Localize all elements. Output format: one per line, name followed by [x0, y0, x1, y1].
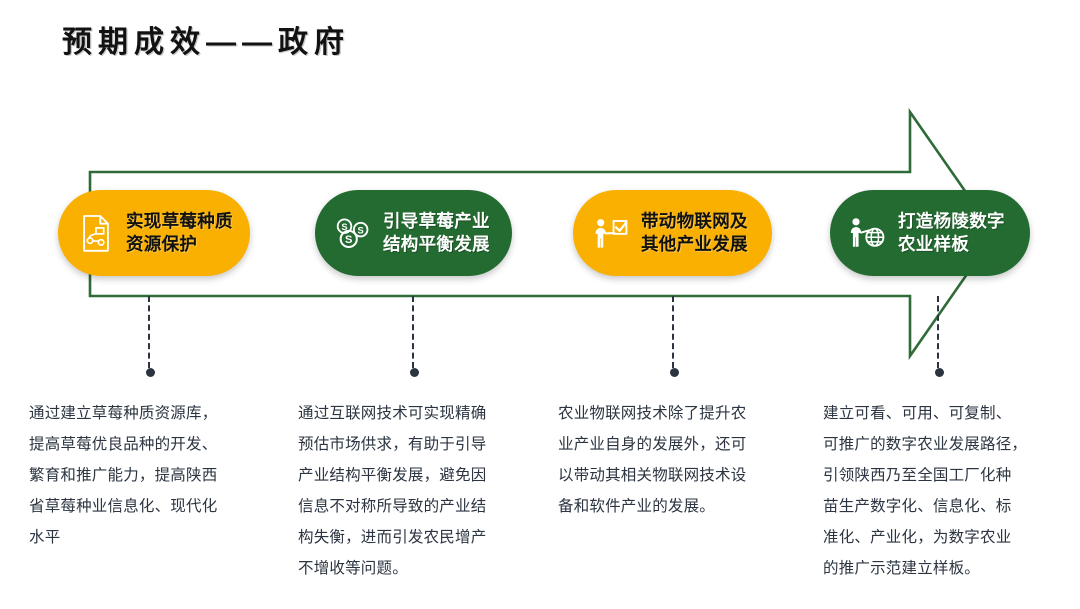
connector-line-1	[148, 296, 150, 368]
coins-money-icon: S S S	[333, 212, 373, 254]
svg-text:S: S	[358, 225, 364, 235]
step-label-3: 带动物联网及 其他产业发展	[641, 210, 748, 256]
connector-dot-3	[670, 368, 679, 377]
step-pill-1[interactable]: 实现草莓种质 资源保护	[58, 190, 250, 276]
slide-canvas: 预期成效——政府 实现草莓种质 资源保护 S	[0, 0, 1080, 609]
connector-dot-2	[410, 368, 419, 377]
step-pill-2[interactable]: S S S 引导草莓产业 结构平衡发展	[315, 190, 512, 276]
step-label-4: 打造杨陵数字 农业样板	[898, 210, 1005, 256]
step-label-1: 实现草莓种质 资源保护	[126, 210, 233, 256]
step-description-4: 建立可看、可用、可复制、 可推广的数字农业发展路径， 引领陕西乃至全国工厂化种 …	[823, 398, 1066, 584]
connector-line-3	[672, 296, 674, 368]
document-flowchart-icon	[76, 212, 116, 254]
connector-dot-4	[935, 368, 944, 377]
step-pill-3[interactable]: 带动物联网及 其他产业发展	[573, 190, 772, 276]
person-checklist-icon	[591, 212, 631, 254]
connector-line-2	[412, 296, 414, 368]
person-globe-icon	[848, 212, 888, 254]
connector-dot-1	[146, 368, 155, 377]
svg-text:S: S	[345, 234, 352, 246]
step-label-2: 引导草莓产业 结构平衡发展	[383, 210, 490, 256]
step-pill-4[interactable]: 打造杨陵数字 农业样板	[830, 190, 1030, 276]
step-description-1: 通过建立草莓种质资源库， 提高草莓优良品种的开发、 繁育和推广能力，提高陕西 省…	[29, 398, 261, 553]
connector-line-4	[937, 296, 939, 368]
step-description-2: 通过互联网技术可实现精确 预估市场供求，有助于引导 产业结构平衡发展，避免因 信…	[298, 398, 534, 584]
step-description-3: 农业物联网技术除了提升农 业产业自身的发展外，还可 以带动其相关物联网技术设 备…	[558, 398, 796, 522]
